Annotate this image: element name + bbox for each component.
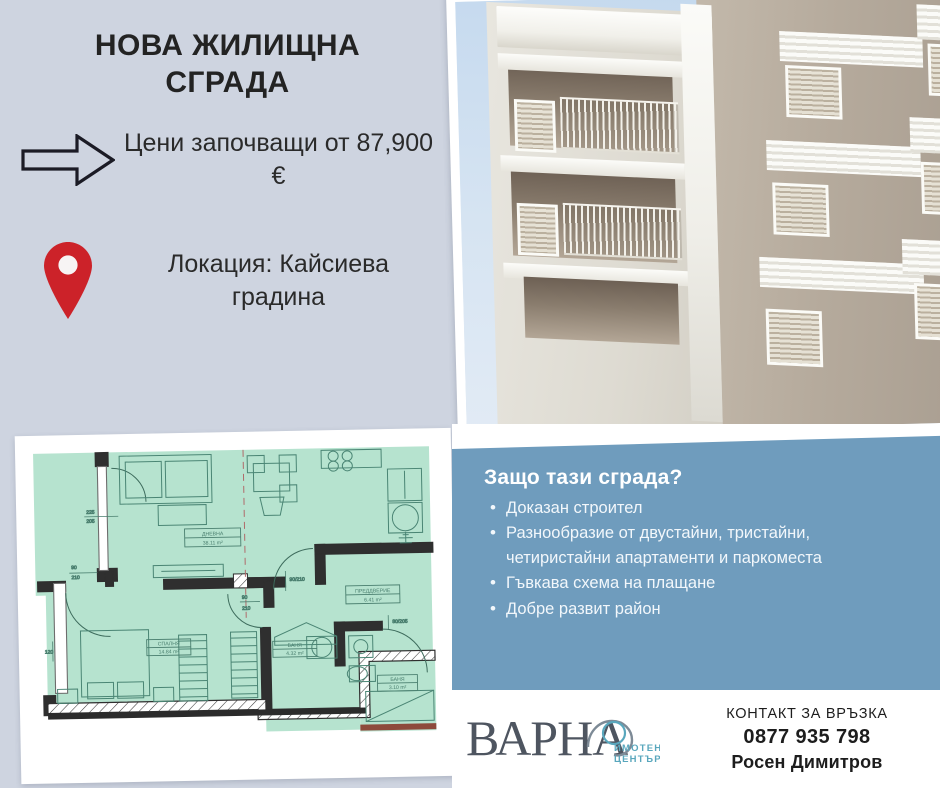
footer: ВАРНА ИМОТЕН ЦЕНТЪР КОНТАКТ ЗА ВРЪЗКА 08… — [452, 690, 940, 788]
location-text: Локация: Кайсиева градина — [122, 248, 441, 314]
page-title: НОВА ЖИЛИЩНА СГРАДА — [14, 28, 441, 101]
benefits-title: Защо тази сграда? — [484, 466, 914, 490]
svg-text:ДНЕВНА: ДНЕВНА — [202, 531, 224, 537]
facade-band-edge-2 — [909, 117, 940, 155]
window-right-3 — [766, 308, 824, 367]
list-item: Добре развит район — [506, 597, 914, 621]
balcony-railing-lower — [563, 203, 682, 260]
svg-text:205: 205 — [86, 519, 95, 525]
price-row: Цени започващи от 87,900 € — [14, 127, 441, 193]
logo-tagline-line2: ЦЕНТЪР — [614, 754, 660, 765]
svg-text:БАНЯ: БАНЯ — [288, 643, 303, 649]
svg-text:БАНЯ: БАНЯ — [390, 677, 405, 683]
arrow-right-outline-icon — [14, 134, 122, 186]
map-pin-icon — [14, 241, 122, 321]
balcony-recess-bottom — [524, 277, 679, 345]
list-item: Доказан строител — [506, 496, 914, 520]
svg-text:90: 90 — [71, 565, 77, 571]
window-left-upper — [514, 99, 556, 153]
location-row: Локация: Кайсиева градина — [14, 241, 441, 321]
svg-text:225: 225 — [86, 510, 95, 516]
window-left-lower — [517, 203, 559, 257]
svg-text:14.84 m²: 14.84 m² — [159, 649, 180, 655]
apartment-floor-plan: ДНЕВНА38.11 m² СПАЛНЯ14.84 m² БАНЯ4.32 m… — [15, 428, 458, 784]
svg-text:4.32 m²: 4.32 m² — [286, 651, 304, 657]
contact-block: КОНТАКТ ЗА ВРЪЗКА 0877 935 798 Росен Дим… — [688, 706, 940, 773]
svg-text:38.11 m²: 38.11 m² — [203, 540, 223, 546]
building-photo-image — [455, 0, 940, 436]
contact-person: Росен Димитров — [688, 752, 926, 773]
promo-block: НОВА ЖИЛИЩНА СГРАДА Цени започващи от 87… — [0, 0, 455, 432]
logo-tagline-line1: ИМОТЕН — [614, 743, 660, 754]
svg-text:210: 210 — [242, 606, 251, 612]
benefits-list: Доказан строител Разнообразие от двустай… — [484, 496, 914, 621]
facade-band-edge-3 — [902, 239, 940, 278]
window-right-1 — [785, 65, 843, 120]
svg-text:СПАЛНЯ: СПАЛНЯ — [158, 641, 180, 647]
list-item: Разнообразие от двустайни, тристайни, че… — [506, 521, 914, 570]
svg-text:90: 90 — [242, 595, 248, 601]
list-item: Гъвкава схема на плащане — [506, 571, 914, 595]
real-estate-advertisement: НОВА ЖИЛИЩНА СГРАДА Цени започващи от 87… — [0, 0, 940, 788]
window-edge-2 — [921, 161, 940, 215]
svg-text:210: 210 — [71, 575, 80, 581]
benefits-body: Защо тази сграда? Доказан строител Разно… — [452, 424, 940, 621]
company-logo[interactable]: ВАРНА ИМОТЕН ЦЕНТЪР — [452, 703, 688, 775]
benefits-panel: Защо тази сграда? Доказан строител Разно… — [452, 424, 940, 690]
contact-phone[interactable]: 0877 935 798 — [688, 726, 926, 749]
balcony-railing-upper — [560, 97, 679, 154]
svg-text:6.41 m²: 6.41 m² — [364, 597, 382, 603]
building-photo — [446, 0, 940, 445]
window-right-2 — [773, 182, 831, 237]
svg-text:ПРЕДДВЕРИЕ: ПРЕДДВЕРИЕ — [355, 588, 391, 595]
window-edge-3 — [914, 283, 940, 342]
price-text: Цени започващи от 87,900 € — [122, 127, 441, 193]
svg-text:120: 120 — [45, 650, 54, 656]
window-edge-1 — [928, 44, 940, 98]
svg-text:80/205: 80/205 — [392, 619, 408, 625]
floor-plan-drawing: ДНЕВНА38.11 m² СПАЛНЯ14.84 m² БАНЯ4.32 m… — [25, 438, 447, 774]
facade-band-edge-1 — [916, 5, 940, 43]
contact-label: КОНТАКТ ЗА ВРЪЗКА — [688, 706, 926, 722]
svg-text:3.10 m²: 3.10 m² — [389, 685, 407, 691]
svg-text:90/210: 90/210 — [289, 577, 305, 583]
